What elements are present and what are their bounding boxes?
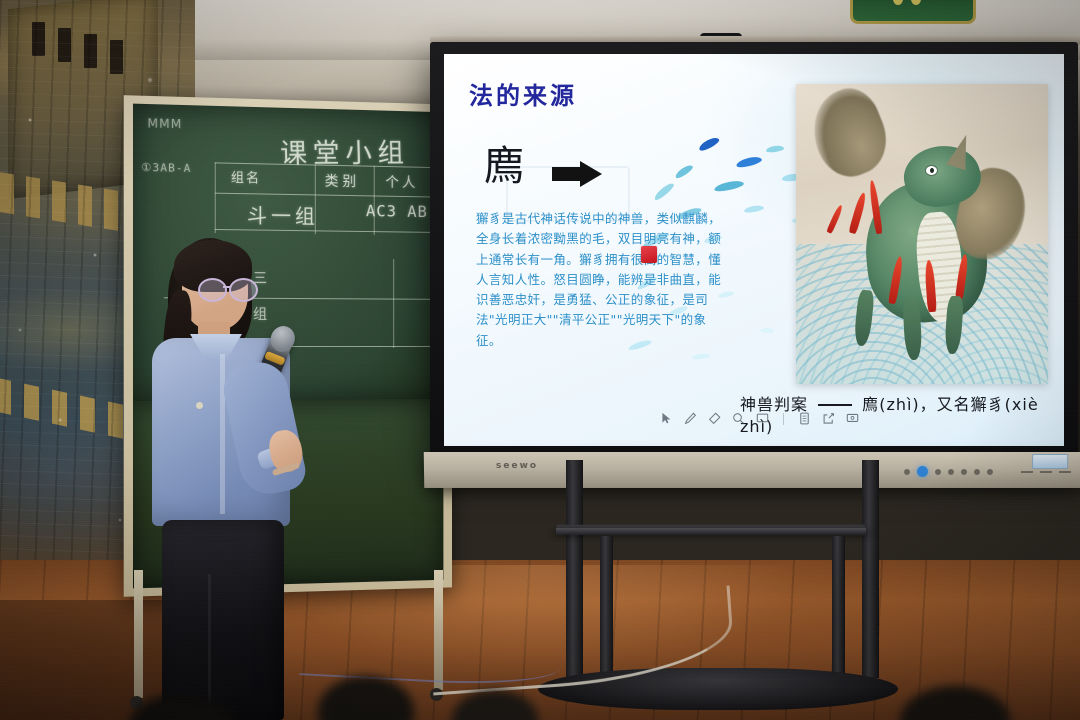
slide-title: 法的来源 bbox=[469, 76, 577, 111]
smart-display[interactable]: 法的来源 廌 獬豸是古代神话传说中的神兽，类似麒麟，全身长着浓密黝黑的毛，双目明… bbox=[430, 42, 1078, 460]
magnifier-icon[interactable] bbox=[732, 412, 745, 425]
control-button-1[interactable] bbox=[935, 469, 941, 475]
display-bottom-bezel: seewo bbox=[424, 452, 1080, 488]
right-arrow-icon bbox=[552, 161, 604, 187]
beast-tail bbox=[800, 84, 897, 186]
control-button-2[interactable] bbox=[948, 469, 954, 475]
xiezhi-painting bbox=[796, 84, 1048, 384]
display-brand-logo: seewo bbox=[496, 461, 538, 471]
stand-leg-right bbox=[832, 536, 845, 678]
indicator-led bbox=[904, 469, 910, 475]
page-icon[interactable] bbox=[798, 412, 811, 425]
presentation-slide[interactable]: 法的来源 廌 獬豸是古代神话传说中的神兽，类似麒麟，全身长着浓密黝黑的毛，双目明… bbox=[444, 54, 1064, 446]
slide-body-text: 獬豸是古代神话传说中的神兽，类似麒麟，全身长着浓密黝黑的毛，双目明亮有神，额上通… bbox=[476, 209, 731, 351]
power-button[interactable] bbox=[917, 466, 928, 477]
stand-shelf-edge bbox=[556, 528, 866, 535]
trousers bbox=[162, 520, 284, 720]
spotlight-icon[interactable] bbox=[756, 412, 769, 425]
blackboard-row-1: 斗一组 bbox=[247, 199, 319, 229]
control-button-3[interactable] bbox=[961, 469, 967, 475]
caption-dash-icon bbox=[818, 404, 852, 406]
presenter bbox=[146, 234, 336, 654]
shirt-placket bbox=[220, 354, 225, 514]
wall-decor-frame bbox=[850, 0, 976, 24]
screen-icon[interactable] bbox=[846, 412, 859, 425]
export-icon[interactable] bbox=[822, 412, 835, 425]
port-slot-3[interactable] bbox=[1059, 470, 1071, 472]
blackboard-note-top: MMM bbox=[147, 116, 182, 131]
display-sticker-label bbox=[1032, 454, 1068, 469]
pen-icon[interactable] bbox=[684, 412, 697, 425]
cursor-icon[interactable] bbox=[660, 412, 673, 425]
blackboard-header-2: 类别 bbox=[325, 171, 360, 192]
eraser-icon[interactable] bbox=[708, 412, 721, 425]
control-button-4[interactable] bbox=[974, 469, 980, 475]
beast-eye bbox=[926, 166, 937, 175]
blackboard-header-3: 个人 bbox=[385, 172, 418, 192]
badge-pin bbox=[196, 402, 203, 409]
screenshot-root: MMM ①3AB-A 课堂小组 组名 类别 个人 斗一组 AC3 AB-15C … bbox=[0, 0, 1080, 720]
glasses bbox=[198, 278, 254, 298]
red-seal-stamp-icon bbox=[641, 246, 657, 263]
toolbar-divider bbox=[783, 413, 784, 425]
blackboard-note-left: ①3AB-A bbox=[141, 161, 191, 175]
display-screen[interactable]: 法的来源 廌 獬豸是古代神话传说中的神兽，类似麒麟，全身长着浓密黝黑的毛，双目明… bbox=[444, 54, 1064, 446]
port-slot-2[interactable] bbox=[1040, 470, 1052, 472]
annotation-toolbar[interactable] bbox=[660, 412, 859, 425]
control-button-5[interactable] bbox=[987, 469, 993, 475]
microphone-head bbox=[267, 322, 299, 355]
port-slot-1[interactable] bbox=[1021, 470, 1033, 472]
blackboard-header-1: 组名 bbox=[231, 167, 261, 187]
glyph-zhi-character: 廌 bbox=[484, 146, 525, 187]
stand-column-right bbox=[862, 460, 879, 678]
